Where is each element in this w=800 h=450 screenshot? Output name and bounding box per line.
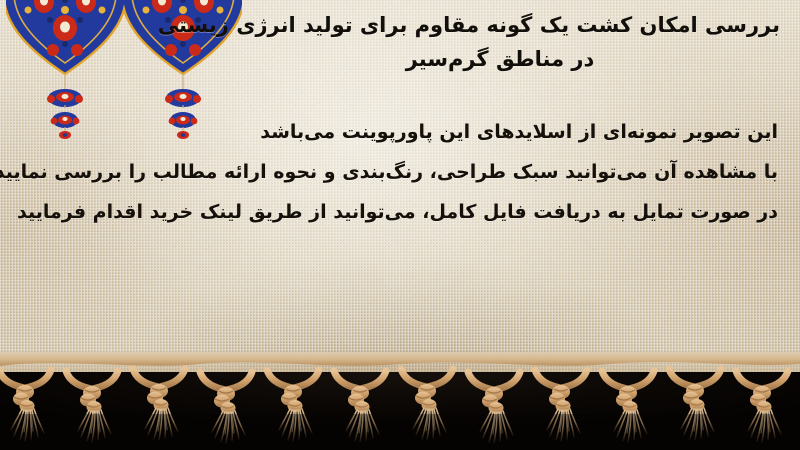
slide-body-line-2: با مشاهده آن می‌توانید سبک طراحی، رنگ‌بن… (18, 152, 778, 192)
carpet-fringe-tassels (0, 352, 800, 450)
slide-body: این تصویر نمونه‌ای از اسلایدهای این پاور… (18, 112, 778, 232)
slide-title-line-1: بررسی امکان کشت یک گونه مقاوم برای تولید… (220, 8, 780, 42)
slide-body-line-3: در صورت تمایل به دریافت فایل کامل، می‌تو… (18, 192, 778, 232)
slide-body-line-1: این تصویر نمونه‌ای از اسلایدهای این پاور… (18, 112, 778, 152)
slide-canvas: بررسی امکان کشت یک گونه مقاوم برای تولید… (0, 0, 800, 450)
slide-title: بررسی امکان کشت یک گونه مقاوم برای تولید… (220, 8, 780, 76)
slide-title-line-2: در مناطق گرم‌سیر (220, 42, 780, 76)
